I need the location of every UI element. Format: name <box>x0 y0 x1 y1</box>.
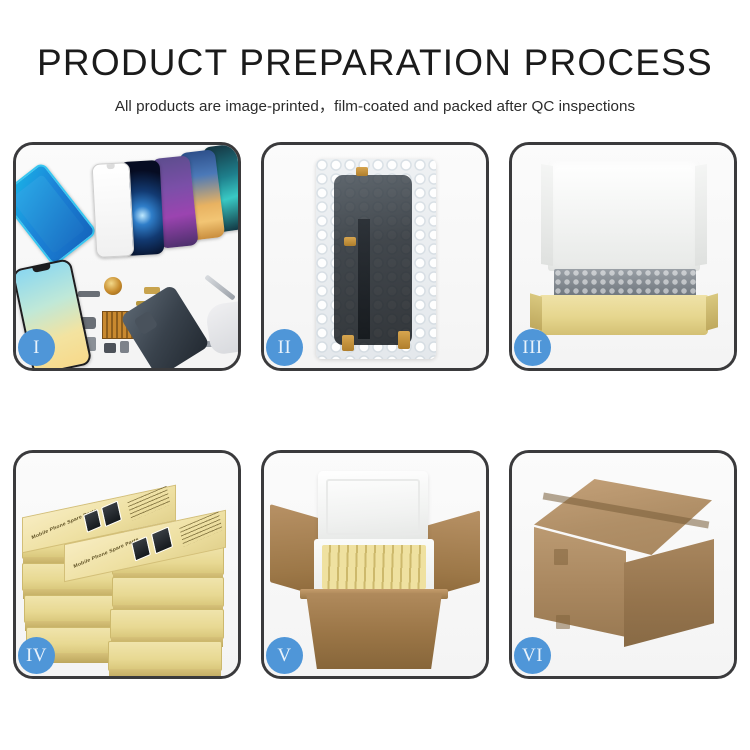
kraft-box-stack: Mobile Phone Spare Parts Mobile Phone Sp… <box>22 475 232 665</box>
carton-tab <box>554 549 568 565</box>
step-badge-1: I <box>18 329 55 366</box>
step-badge-2: II <box>266 329 303 366</box>
foam-lid <box>548 161 700 271</box>
step-badge-3: III <box>514 329 551 366</box>
wrapped-phone-screen <box>334 175 412 345</box>
tweezers-tool <box>204 274 235 300</box>
page-subtitle: All products are image-printed，film-coat… <box>0 81 750 116</box>
speaker-coil-part <box>104 277 122 295</box>
spare-part <box>120 341 129 353</box>
step-card-3[interactable]: III <box>509 142 737 371</box>
stacked-box <box>110 609 224 639</box>
spare-part <box>78 291 100 297</box>
hand-holding-part <box>205 300 241 355</box>
phone-back-housing <box>120 284 211 371</box>
tape-strip <box>356 167 368 176</box>
tape-strip <box>344 237 356 246</box>
tape-strip <box>398 331 410 349</box>
grey-bubble-wrap-contents <box>554 269 696 297</box>
box-spec-lines <box>127 486 170 521</box>
step-badge-5: V <box>266 637 303 674</box>
stacked-box <box>108 641 222 671</box>
carton-tab <box>556 615 570 629</box>
yellow-boxes-inside <box>322 545 426 589</box>
step-card-1[interactable]: I <box>13 142 241 371</box>
flex-cable <box>358 219 370 339</box>
stacked-box <box>112 577 224 607</box>
step-badge-4: IV <box>18 637 55 674</box>
step-badge-6: VI <box>514 637 551 674</box>
box-artwork-chip <box>101 501 122 528</box>
carton-side-face <box>624 539 714 647</box>
step-card-2[interactable]: II <box>261 142 489 371</box>
step-card-5[interactable]: V <box>261 450 489 679</box>
kraft-box-base <box>540 295 708 335</box>
step-card-6[interactable]: VI <box>509 450 737 679</box>
phone-screen-blue <box>13 161 98 266</box>
carton-body <box>306 593 442 669</box>
box-spec-lines <box>179 511 222 546</box>
page-title: PRODUCT PREPARATION PROCESS <box>0 0 750 81</box>
process-steps-grid: I II III <box>13 142 737 679</box>
phone-glass-white <box>92 162 135 258</box>
tape-strip <box>342 335 354 351</box>
bubble-wrap-bag <box>316 159 436 359</box>
page-header: PRODUCT PREPARATION PROCESS All products… <box>0 0 750 116</box>
box-artwork-chip <box>151 526 173 554</box>
spare-part <box>104 343 116 353</box>
box-label-text: Mobile Phone Spare Parts <box>73 537 139 570</box>
step-card-4[interactable]: Mobile Phone Spare Parts Mobile Phone Sp… <box>13 450 241 679</box>
styrofoam-lid <box>318 471 428 543</box>
